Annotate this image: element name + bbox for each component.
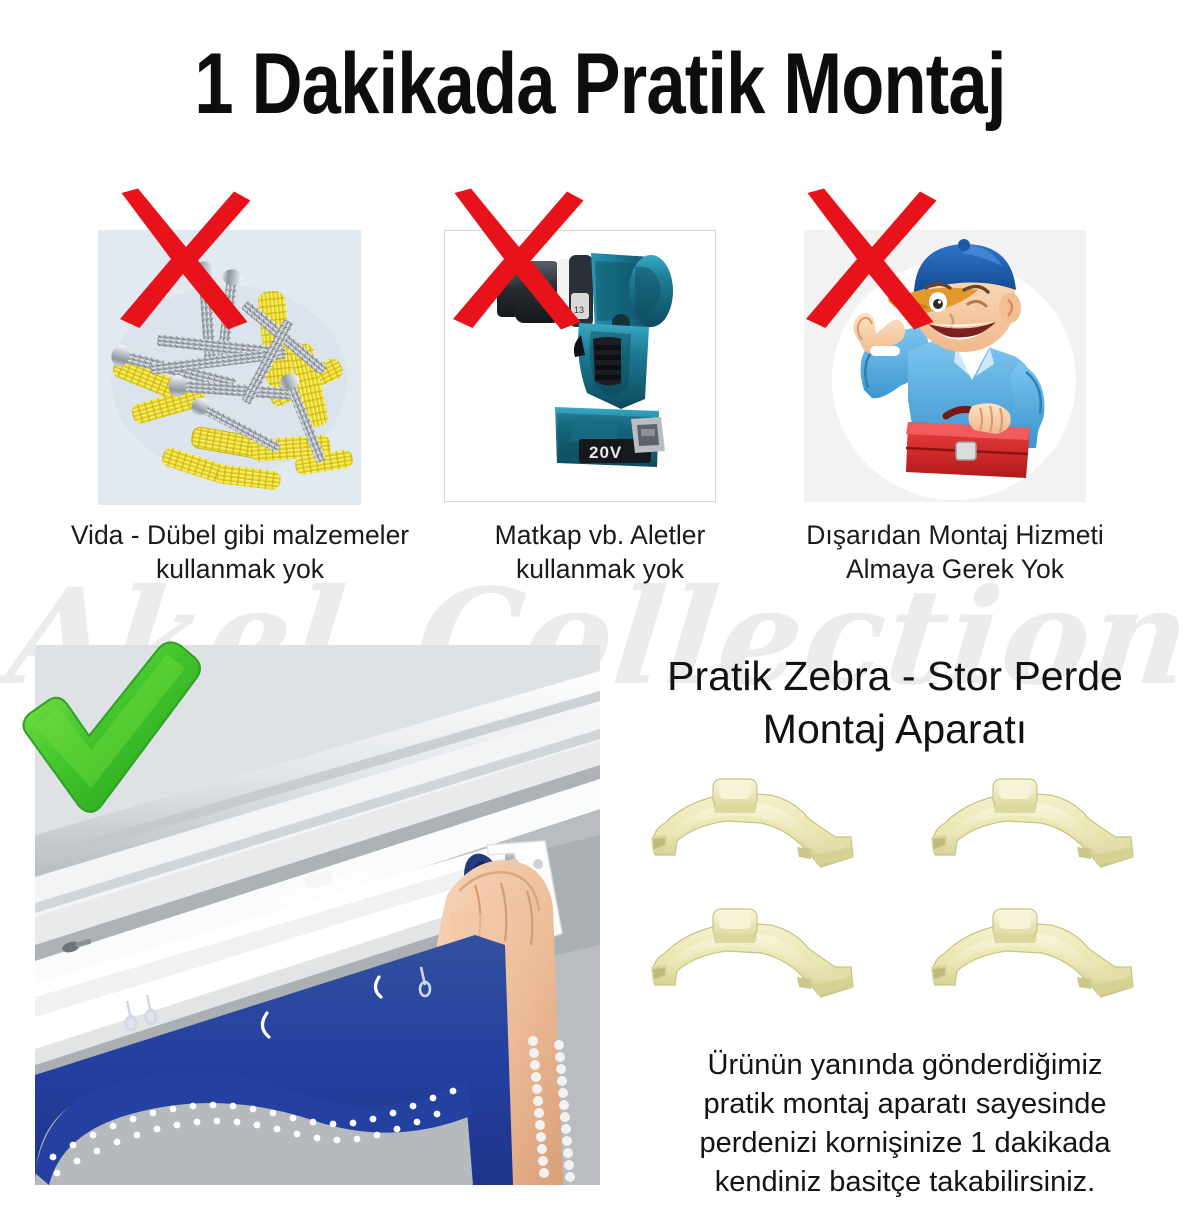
product-subtitle: Pratik Zebra - Stor Perde Montaj Aparatı	[610, 650, 1180, 756]
svg-text:13: 13	[574, 305, 584, 315]
dont-items-row: Vida - Dübel gibi malzemeler kullanmak y…	[0, 170, 1200, 590]
screws-illustration	[98, 230, 361, 505]
bracket-grid	[625, 775, 1185, 1025]
description-line-2: pratik montaj aparatı sayesinde	[620, 1085, 1190, 1124]
dont-item-caption: Vida - Dübel gibi malzemeler kullanmak y…	[60, 518, 420, 586]
product-description: Ürünün yanında gönderdiğimiz pratik mont…	[620, 1046, 1190, 1202]
dont-item-caption: Matkap vb. Aletler kullanmak yok	[440, 518, 760, 586]
caption-line-2: kullanmak yok	[60, 552, 420, 586]
subtitle-line-1: Pratik Zebra - Stor Perde	[610, 650, 1180, 703]
green-check-icon	[15, 638, 205, 823]
mounting-bracket	[645, 905, 865, 1010]
dont-item-caption: Dışarıdan Montaj Hizmeti Almaya Gerek Yo…	[770, 518, 1140, 586]
caption-line-1: Matkap vb. Aletler	[440, 518, 760, 552]
mounting-bracket	[925, 905, 1145, 1010]
dont-item-drill: 13	[440, 170, 760, 442]
description-line-1: Ürünün yanında gönderdiğimiz	[620, 1046, 1190, 1085]
description-line-3: perdenizi kornişinize 1 dakikada	[620, 1124, 1190, 1163]
caption-line-1: Dışarıdan Montaj Hizmeti	[770, 518, 1140, 552]
mounting-bracket	[925, 775, 1145, 880]
mounting-bracket	[645, 775, 865, 880]
screws-and-wall-plugs-photo	[98, 230, 361, 505]
description-line-4: kendiniz basitçe takabilirsiniz.	[620, 1163, 1190, 1202]
handyman-illustration	[804, 230, 1086, 502]
caption-line-2: Almaya Gerek Yok	[770, 552, 1140, 586]
cordless-drill-photo: 13	[444, 230, 716, 502]
subtitle-line-2: Montaj Aparatı	[610, 703, 1180, 756]
handyman-cartoon	[804, 230, 1086, 502]
drill-illustration: 13	[445, 231, 715, 501]
promo-infographic: Akel Collection 1 Dakikada Pratik Montaj	[0, 0, 1200, 1224]
caption-line-1: Vida - Dübel gibi malzemeler	[60, 518, 420, 552]
caption-line-2: kullanmak yok	[440, 552, 760, 586]
battery-voltage-label: 20V	[589, 443, 622, 462]
dont-item-installer: Dışarıdan Montaj Hizmeti Almaya Gerek Yo…	[770, 170, 1140, 442]
dont-item-screws: Vida - Dübel gibi malzemeler kullanmak y…	[60, 170, 420, 445]
page-title: 1 Dakikada Pratik Montaj	[108, 36, 1092, 132]
